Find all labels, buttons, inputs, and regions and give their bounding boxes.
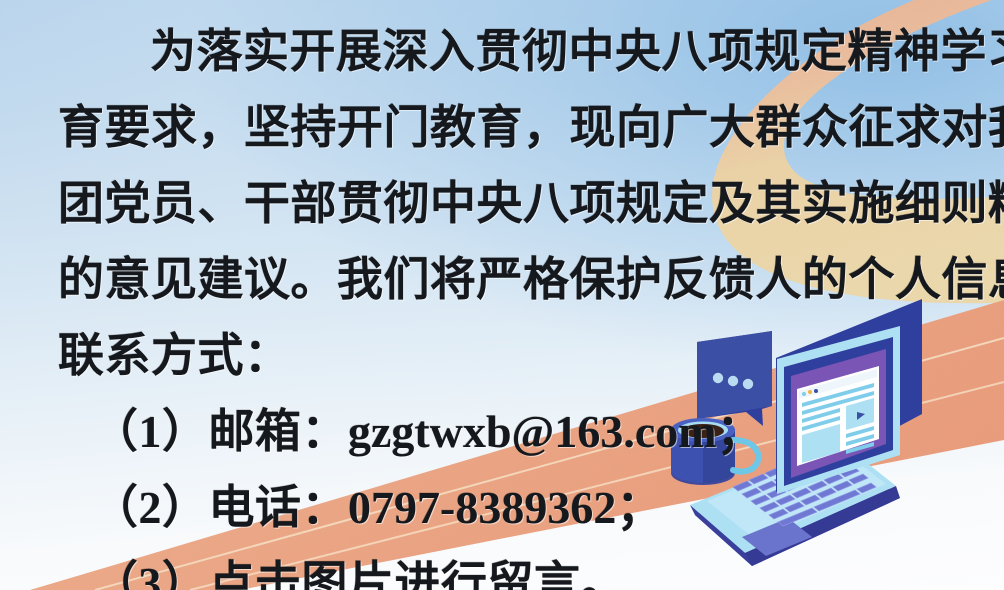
body-line-2: 育要求，坚持开门教育，现向广大群众征求对我集 xyxy=(58,90,946,166)
contact-item-email-index: （1） xyxy=(92,406,209,457)
contact-item-email-label: 邮箱： xyxy=(209,406,349,457)
poster-canvas: 为落实开展深入贯彻中央八项规定精神学习教 育要求，坚持开门教育，现向广大群众征求… xyxy=(0,0,1004,590)
announcement-text-block: 为落实开展深入贯彻中央八项规定精神学习教 育要求，坚持开门教育，现向广大群众征求… xyxy=(0,0,1004,590)
contact-item-email: （1）邮箱：gzgtwxb@163.com； xyxy=(58,394,946,470)
contact-item-email-value[interactable]: gzgtwxb@163.com； xyxy=(348,406,763,457)
body-line-1: 为落实开展深入贯彻中央八项规定精神学习教 xyxy=(58,14,946,90)
contact-item-phone-value[interactable]: 0797-8389362； xyxy=(348,482,662,533)
body-line-3: 团党员、干部贯彻中央八项规定及其实施细则精神 xyxy=(58,166,946,242)
contact-heading: 联系方式： xyxy=(58,318,946,394)
contact-item-image-message-label: 点击图片进行留言。 xyxy=(209,558,628,590)
contact-item-image-message[interactable]: （3）点击图片进行留言。 xyxy=(58,546,946,590)
contact-item-image-message-index: （3） xyxy=(92,558,209,590)
body-line-4: 的意见建议。我们将严格保护反馈人的个人信息。 xyxy=(58,242,946,318)
contact-item-phone-index: （2） xyxy=(92,482,209,533)
contact-item-phone: （2）电话：0797-8389362； xyxy=(58,470,946,546)
contact-item-phone-label: 电话： xyxy=(209,482,349,533)
